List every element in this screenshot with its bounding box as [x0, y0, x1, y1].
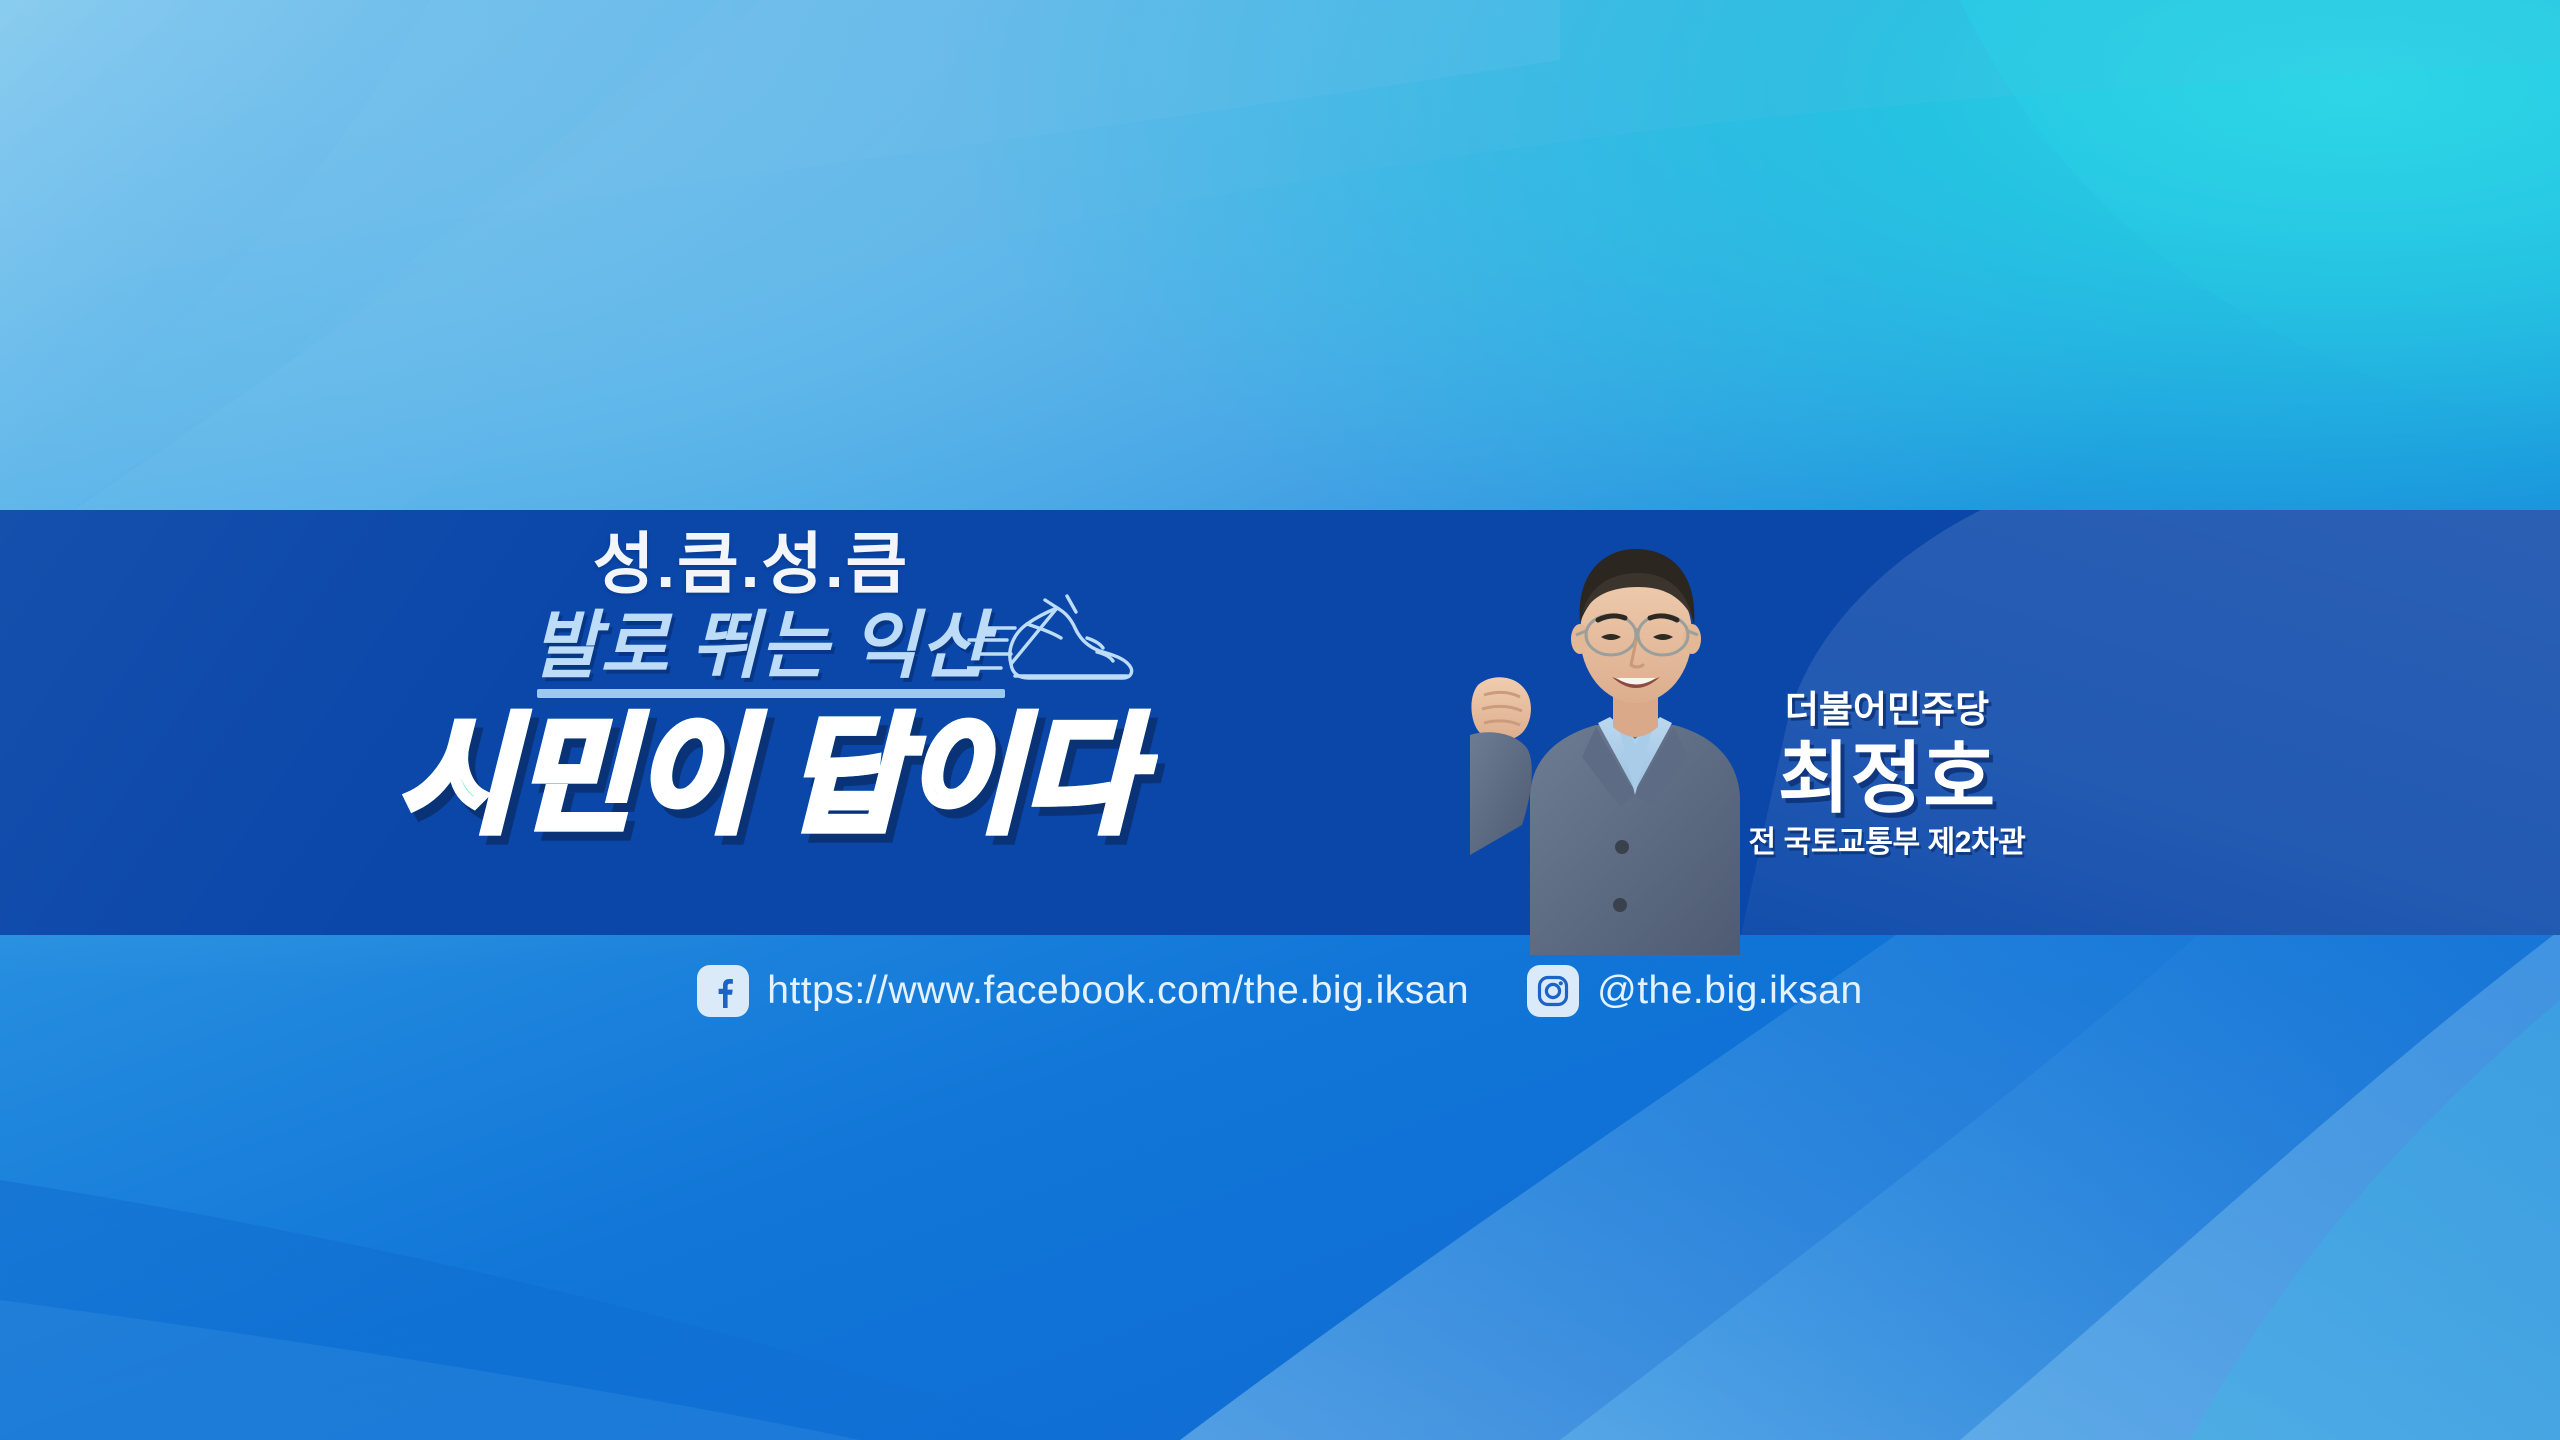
instagram-link[interactable]: @the.big.iksan [1527, 965, 1863, 1017]
candidate-name-block: 더불어민주당 최정호 전 국토교통부 제2차관 [1722, 690, 2052, 859]
slogan-line-1: 성.큼.성.큼 [593, 530, 909, 600]
party-name: 더불어민주당 [1722, 690, 2052, 731]
instagram-icon[interactable] [1527, 965, 1579, 1017]
running-shoe-icon [967, 572, 1157, 692]
social-links-row: https://www.facebook.com/the.big.iksan @… [0, 952, 2560, 1030]
slogan-underline [537, 689, 1005, 698]
slogan-line-2-wrapper: 발로 뛰는 익산 [531, 606, 989, 686]
facebook-icon[interactable] [697, 965, 749, 1017]
slogan-line-2: 발로 뛰는 익산 [531, 606, 989, 686]
facebook-url[interactable]: https://www.facebook.com/the.big.iksan [767, 969, 1469, 1013]
youtube-channel-banner: 성.큼.성.큼 발로 뛰는 익산 [0, 0, 2560, 1440]
instagram-handle[interactable]: @the.big.iksan [1597, 969, 1863, 1013]
facebook-link[interactable]: https://www.facebook.com/the.big.iksan [697, 965, 1469, 1017]
candidate-role: 전 국토교통부 제2차관 [1722, 826, 2052, 859]
candidate-name: 최정호 [1722, 735, 2052, 822]
slogan-line-3: 시민이 답이다 [398, 712, 1140, 843]
slogan-block: 성.큼.성.큼 발로 뛰는 익산 [0, 510, 1560, 935]
